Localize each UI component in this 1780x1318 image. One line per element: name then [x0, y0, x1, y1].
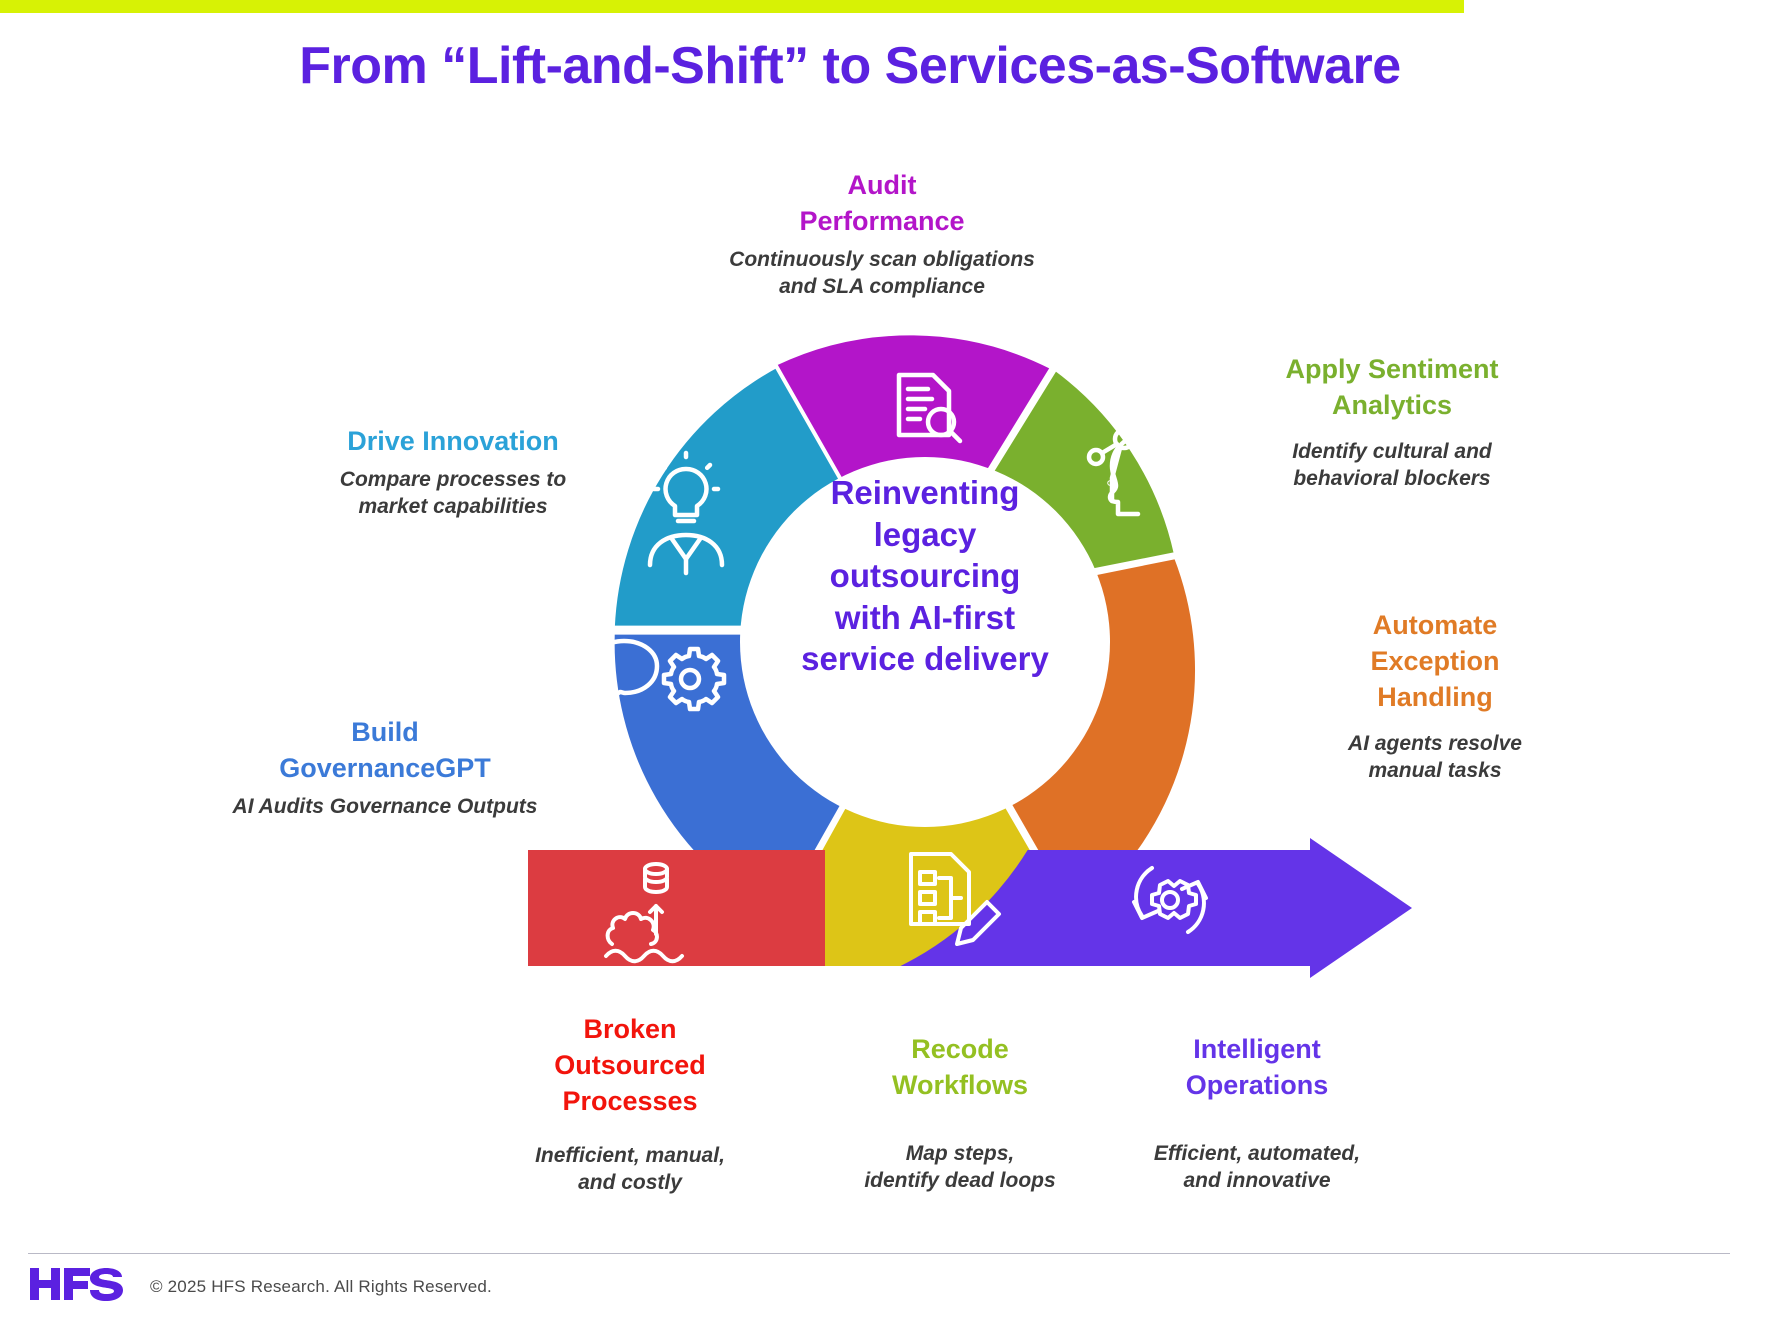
top-accent-bar-gap [1464, 0, 1780, 13]
callout-sentiment-sub-line2: behavioral blockers [1232, 465, 1552, 492]
center-line-1: Reinventing [767, 472, 1083, 514]
callout-audit-performance: Audit Performance Continuously scan obli… [672, 168, 1092, 300]
callout-recode-title-line2: Workflows [830, 1068, 1090, 1104]
callout-sentiment-sub-line1: Identify cultural and [1232, 438, 1552, 465]
callout-governance-title-line2: GovernanceGPT [180, 751, 590, 787]
callout-apply-sentiment-analytics: Apply Sentiment Analytics Identify cultu… [1232, 352, 1552, 492]
callout-recode-sub-line2: identify dead loops [830, 1167, 1090, 1194]
callout-audit-title-line1: Audit [672, 168, 1092, 204]
copyright-text: © 2025 HFS Research. All Rights Reserved… [150, 1277, 492, 1297]
callout-recode-title: Recode Workflows [830, 1032, 1090, 1104]
callout-intelligent-title-line2: Operations [1092, 1068, 1422, 1104]
callout-automate-title-line2: Exception [1290, 644, 1580, 680]
callout-audit-title-line2: Performance [672, 204, 1092, 240]
callout-drive-innovation: Drive Innovation Compare processes to ma… [288, 424, 618, 521]
callout-recode-sub-line1: Map steps, [830, 1140, 1090, 1167]
callout-drive-subtitle: Compare processes to market capabilities [288, 466, 618, 521]
callout-broken-sub-line1: Inefficient, manual, [490, 1142, 770, 1169]
callout-automate-title-line1: Automate [1290, 608, 1580, 644]
callout-governance-title: Build GovernanceGPT [180, 715, 590, 787]
callout-intelligent-subtitle: Efficient, automated, and innovative [1092, 1140, 1422, 1195]
callout-automate-subtitle: AI agents resolve manual tasks [1290, 730, 1580, 785]
callout-governance-title-line1: Build [180, 715, 590, 751]
hfs-logo [30, 1268, 126, 1302]
transformation-arrow [520, 828, 1420, 998]
center-line-2: legacy [767, 514, 1083, 556]
callout-drive-title: Drive Innovation [288, 424, 618, 460]
callout-broken-title: Broken Outsourced Processes [490, 1012, 770, 1120]
callout-audit-sub-line2: and SLA compliance [672, 273, 1092, 300]
callout-governance-subtitle: AI Audits Governance Outputs [180, 793, 590, 820]
callout-sentiment-title-line2: Analytics [1232, 388, 1552, 424]
callout-recode-subtitle: Map steps, identify dead loops [830, 1140, 1090, 1195]
callout-intelligent-sub-line1: Efficient, automated, [1092, 1140, 1422, 1167]
callout-drive-sub-line2: market capabilities [288, 493, 618, 520]
callout-automate-title-line3: Handling [1290, 680, 1580, 716]
callout-broken-title-line2: Outsourced [490, 1048, 770, 1084]
center-line-4: with AI-first [767, 597, 1083, 639]
callout-drive-title-line1: Drive Innovation [288, 424, 618, 460]
callout-automate-sub-line2: manual tasks [1290, 757, 1580, 784]
footer-divider [28, 1253, 1730, 1254]
callout-audit-sub-line1: Continuously scan obligations [672, 246, 1092, 273]
callout-recode-title-line1: Recode [830, 1032, 1090, 1068]
callout-broken-sub-line2: and costly [490, 1169, 770, 1196]
callout-sentiment-title: Apply Sentiment Analytics [1232, 352, 1552, 424]
callout-intelligent-operations: Intelligent Operations Efficient, automa… [1092, 1032, 1422, 1194]
callout-automate-sub-line1: AI agents resolve [1290, 730, 1580, 757]
callout-intelligent-title-line1: Intelligent [1092, 1032, 1422, 1068]
callout-drive-sub-line1: Compare processes to [288, 466, 618, 493]
callout-broken-title-line3: Processes [490, 1084, 770, 1120]
callout-broken-title-line1: Broken [490, 1012, 770, 1048]
callout-automate-title: Automate Exception Handling [1290, 608, 1580, 716]
callout-governance-sub-line1: AI Audits Governance Outputs [180, 793, 590, 820]
callout-intelligent-sub-line2: and innovative [1092, 1167, 1422, 1194]
donut-center-text: Reinventing legacy outsourcing with AI-f… [767, 472, 1083, 680]
callout-audit-title: Audit Performance [672, 168, 1092, 240]
callout-sentiment-title-line1: Apply Sentiment [1232, 352, 1552, 388]
center-line-3: outsourcing [767, 555, 1083, 597]
arrow-segment-broken-processes[interactable] [520, 850, 825, 966]
callout-intelligent-title: Intelligent Operations [1092, 1032, 1422, 1104]
callout-broken-outsourced-processes: Broken Outsourced Processes Inefficient,… [490, 1012, 770, 1196]
callout-build-governancegpt: Build GovernanceGPT AI Audits Governance… [180, 715, 590, 820]
callout-recode-workflows: Recode Workflows Map steps, identify dea… [830, 1032, 1090, 1194]
center-line-5: service delivery [767, 638, 1083, 680]
callout-audit-subtitle: Continuously scan obligations and SLA co… [672, 246, 1092, 301]
callout-sentiment-subtitle: Identify cultural and behavioral blocker… [1232, 438, 1552, 493]
slide-canvas: From “Lift-and-Shift” to Services-as-Sof… [0, 0, 1780, 1318]
callout-broken-subtitle: Inefficient, manual, and costly [490, 1142, 770, 1197]
callout-automate-exception-handling: Automate Exception Handling AI agents re… [1290, 608, 1580, 784]
page-title: From “Lift-and-Shift” to Services-as-Sof… [0, 36, 1700, 96]
